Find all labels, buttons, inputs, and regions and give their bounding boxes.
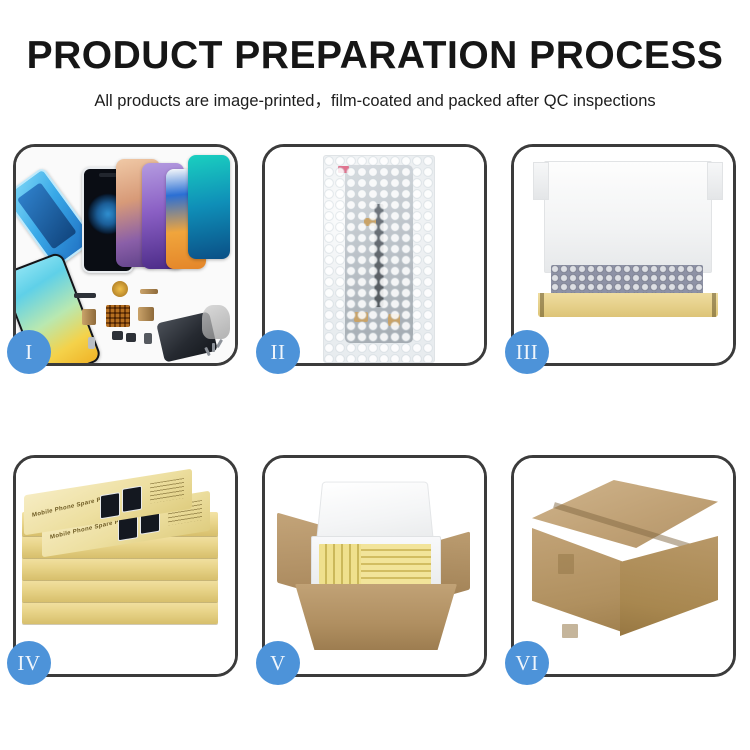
box-spec-lines-upper: [150, 478, 184, 503]
step-photo-2: [265, 147, 484, 363]
step-photo-6: [514, 458, 733, 674]
open-carton-with-foam-photo: [265, 458, 484, 674]
page-subtitle: All products are image-printed，film-coat…: [0, 77, 750, 111]
stacked-retail-boxes-photo: Mobile Phone Spare Parts Mobile Phone Sp…: [16, 458, 235, 674]
page-root: PRODUCT PREPARATION PROCESS All products…: [0, 0, 750, 750]
part-sim-tray-icon: [88, 337, 95, 349]
process-step-panel-5: V: [262, 455, 487, 677]
kraft-box-front-graphic: [538, 293, 718, 317]
carton-left-face-graphic: [532, 528, 622, 632]
part-flex-cable-2-icon: [82, 309, 96, 325]
yellow-boxes-row-2-graphic: [361, 544, 431, 584]
part-bracket-icon: [74, 293, 96, 298]
stacked-box-layer-3: [22, 556, 218, 580]
part-screw-2-icon: [216, 339, 223, 348]
process-steps-grid: I II: [13, 144, 737, 734]
hand-holding-part-graphic: [202, 305, 230, 339]
part-button-icon: [144, 333, 152, 344]
teal-phone-graphic: [188, 155, 230, 259]
carton-top-face-graphic: [532, 480, 718, 548]
step-badge-1: I: [7, 330, 51, 374]
part-screw-1-icon: [212, 343, 215, 352]
process-step-panel-3: III: [511, 144, 736, 366]
kraft-box-foam-lid-graphic: [544, 161, 712, 273]
part-flex-cable-icon: [140, 289, 158, 294]
part-coil-icon: [112, 281, 128, 297]
part-camera-module-icon: [112, 331, 123, 340]
step-photo-5: [265, 458, 484, 674]
step-badge-4: IV: [7, 641, 51, 685]
box-stack-graphic: Mobile Phone Spare Parts Mobile Phone Sp…: [22, 480, 232, 660]
carton-tape-patch-1-graphic: [558, 554, 574, 574]
step-badge-3: III: [505, 330, 549, 374]
part-chip-array-icon: [106, 305, 130, 327]
bubble-texture-overlay: [324, 156, 434, 362]
page-title: PRODUCT PREPARATION PROCESS: [0, 0, 750, 77]
step-photo-1: [16, 147, 235, 363]
step-photo-4: Mobile Phone Spare Parts Mobile Phone Sp…: [16, 458, 235, 674]
stacked-box-layer-5: [22, 600, 218, 624]
process-step-panel-4: Mobile Phone Spare Parts Mobile Phone Sp…: [13, 455, 238, 677]
box-screen-image-upper-2: [122, 486, 142, 513]
sealed-carton-photo: [514, 458, 733, 674]
phones-and-parts-photo: [16, 147, 235, 363]
box-screen-image-upper-1: [100, 492, 120, 519]
stacked-box-layer-4: [22, 578, 218, 602]
process-step-panel-2: II: [262, 144, 487, 366]
bubble-wrapped-screen-photo: [265, 147, 484, 363]
step-badge-6: VI: [505, 641, 549, 685]
process-step-panel-1: I: [13, 144, 238, 366]
carton-right-face-graphic: [620, 536, 718, 636]
page-header: PRODUCT PREPARATION PROCESS All products…: [0, 0, 750, 111]
carton-body-graphic: [295, 584, 457, 650]
part-speaker-icon: [126, 333, 136, 342]
process-step-panel-6: VI: [511, 455, 736, 677]
bubble-wrap-bag-graphic: [323, 155, 435, 363]
open-kraft-box-photo: [514, 147, 733, 363]
carton-tape-patch-2-graphic: [562, 624, 578, 638]
part-flex-cable-3-icon: [138, 307, 154, 321]
step-badge-2: II: [256, 330, 300, 374]
step-badge-5: V: [256, 641, 300, 685]
step-photo-3: [514, 147, 733, 363]
